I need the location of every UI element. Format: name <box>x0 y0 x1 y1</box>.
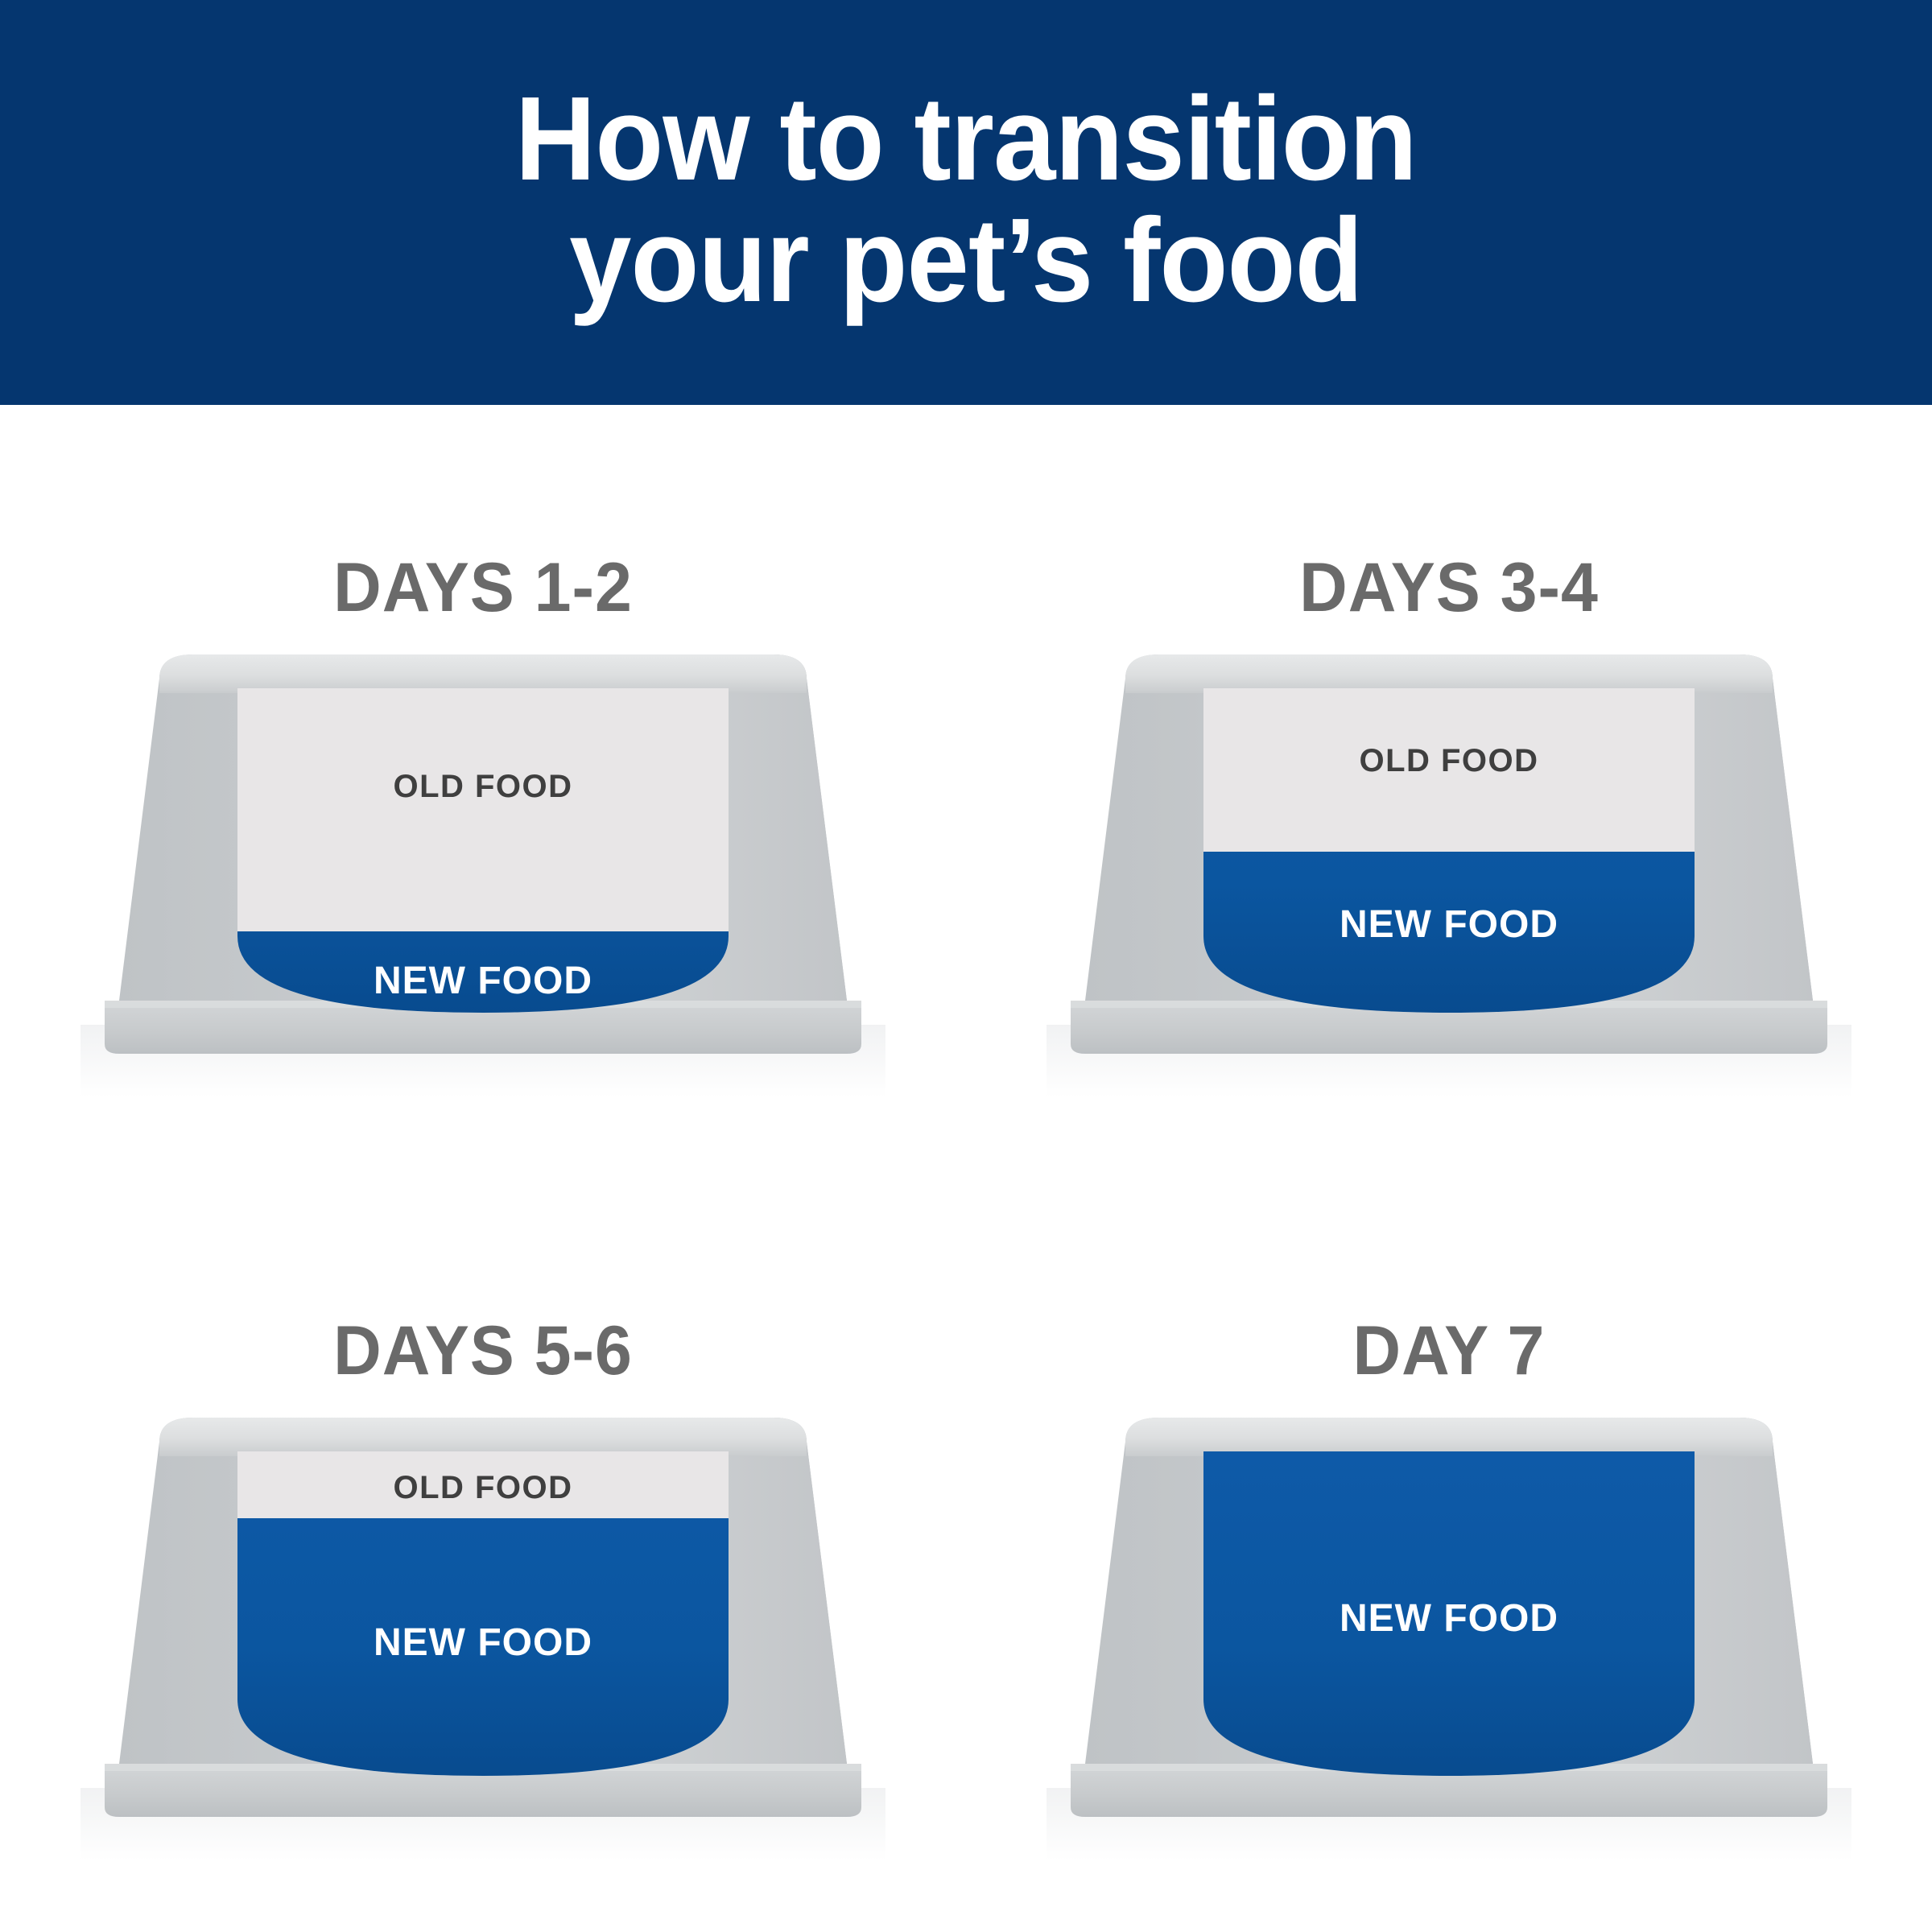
transition-step-card: DAYS 3-4 OLD FOOD NEW FOOD <box>966 405 1932 1168</box>
food-bowl-illustration <box>80 1410 885 1860</box>
food-bowl: NEW FOOD <box>1046 1410 1851 1860</box>
food-bowl-illustration <box>1046 1410 1851 1860</box>
food-bowl-illustration <box>1046 646 1851 1097</box>
transition-step-card: DAYS 5-6 OLD FOOD NEW FOOD <box>0 1168 966 1931</box>
transition-steps-grid: DAYS 1-2 <box>0 405 1932 1932</box>
day-label: DAYS 1-2 <box>19 548 947 628</box>
transition-step-card: DAYS 1-2 <box>0 405 966 1168</box>
food-bowl: OLD FOOD NEW FOOD <box>1046 646 1851 1097</box>
day-label: DAYS 5-6 <box>19 1311 947 1391</box>
food-bowl-illustration <box>80 646 885 1097</box>
transition-step-card: DAY 7 NEW FOOD <box>966 1168 1932 1931</box>
food-bowl: OLD FOOD NEW FOOD <box>80 1410 885 1860</box>
page-title: How to transition your pet’s food <box>515 79 1417 322</box>
header-banner: How to transition your pet’s food <box>0 0 1932 405</box>
day-label: DAY 7 <box>985 1311 1913 1391</box>
food-bowl: OLD FOOD NEW FOOD <box>80 646 885 1097</box>
day-label: DAYS 3-4 <box>985 548 1913 628</box>
